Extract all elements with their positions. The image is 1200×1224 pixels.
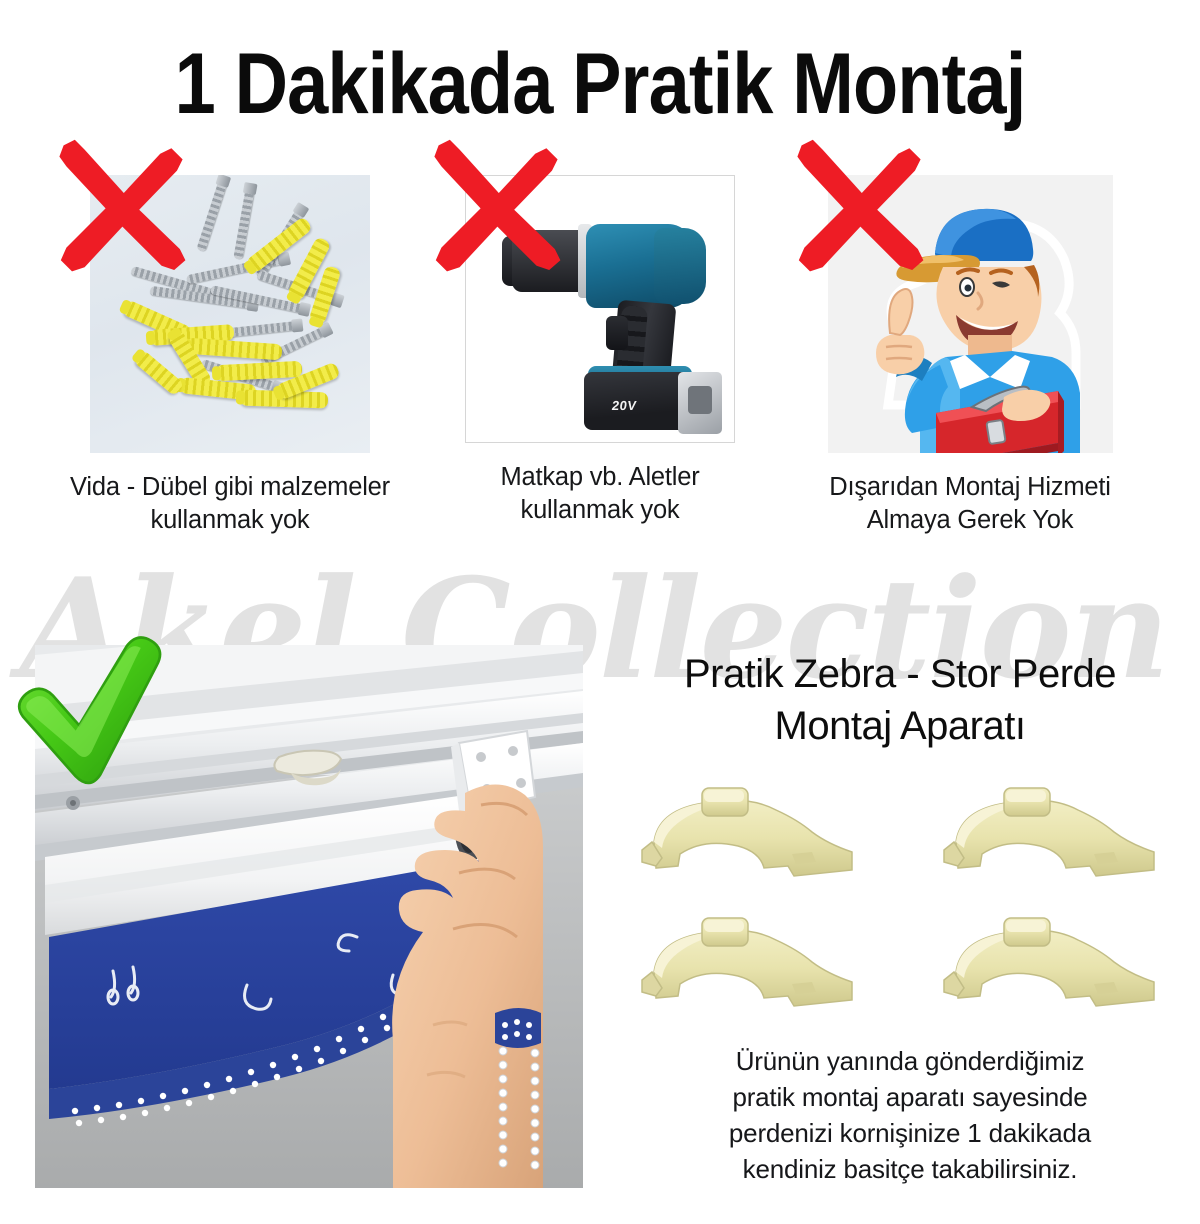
restriction-item-installer: Dışarıdan Montaj Hizmeti Almaya Gerek Yo… <box>770 175 1170 537</box>
restriction-caption-drill: Matkap vb. Aletler kullanmak yok <box>440 461 760 527</box>
description-line-3: perdenizi kornişinize 1 dakikada <box>620 1115 1200 1151</box>
bracket-gallery <box>620 770 1200 1020</box>
handyman-cartoon <box>828 175 1113 453</box>
description-line-2: pratik montaj aparatı sayesinde <box>620 1079 1200 1115</box>
restriction-caption-screws: Vida - Dübel gibi malzemeler kullanmak y… <box>30 471 430 537</box>
screws-and-wall-plugs-photo <box>90 175 370 453</box>
restriction-item-screws: Vida - Dübel gibi malzemeler kullanmak y… <box>30 175 430 537</box>
beige-plastic-mounting-bracket <box>638 910 868 1015</box>
hand-installing-roller-blind-on-rail <box>35 645 583 1188</box>
handyman-thumbnail <box>828 175 1113 453</box>
description-line-4: kendiniz basitçe takabilirsiniz. <box>620 1151 1200 1187</box>
drill-trigger <box>606 316 628 350</box>
beige-plastic-mounting-bracket <box>638 780 868 885</box>
product-title-line-2: Montaj Aparatı <box>600 700 1200 752</box>
product-title: Pratik Zebra - Stor Perde Montaj Aparatı <box>600 648 1200 752</box>
drill-battery-voltage-label: 20V <box>611 398 638 413</box>
drill-belt-clip <box>678 372 722 434</box>
page-title: 1 Dakikada Pratik Montaj <box>84 36 1116 132</box>
cordless-drill-photo: 20V <box>465 175 735 443</box>
caption-line-1: Dışarıdan Montaj Hizmeti <box>770 471 1170 504</box>
caption-line-1: Vida - Dübel gibi malzemeler <box>30 471 430 504</box>
drill-thumbnail: 20V <box>465 175 735 443</box>
description-line-1: Ürünün yanında gönderdiğimiz <box>620 1043 1200 1079</box>
screws-thumbnail <box>90 175 370 453</box>
restriction-item-drill: 20V Matkap vb. Aletler kullanmak yok <box>440 175 760 527</box>
beige-plastic-mounting-bracket <box>940 780 1170 885</box>
caption-line-2: kullanmak yok <box>30 504 430 537</box>
caption-line-2: Almaya Gerek Yok <box>770 504 1170 537</box>
product-title-line-1: Pratik Zebra - Stor Perde <box>600 648 1200 700</box>
drill-motor-housing <box>654 228 706 304</box>
restriction-caption-installer: Dışarıdan Montaj Hizmeti Almaya Gerek Yo… <box>770 471 1170 537</box>
restrictions-row: Vida - Dübel gibi malzemeler kullanmak y… <box>0 175 1200 595</box>
caption-line-1: Matkap vb. Aletler <box>440 461 760 494</box>
beige-plastic-mounting-bracket <box>940 910 1170 1015</box>
product-description: Ürünün yanında gönderdiğimiz pratik mont… <box>620 1043 1200 1187</box>
caption-line-2: kullanmak yok <box>440 494 760 527</box>
promo-image-root: 1 Dakikada Pratik Montaj Akel Collection <box>0 0 1200 1224</box>
